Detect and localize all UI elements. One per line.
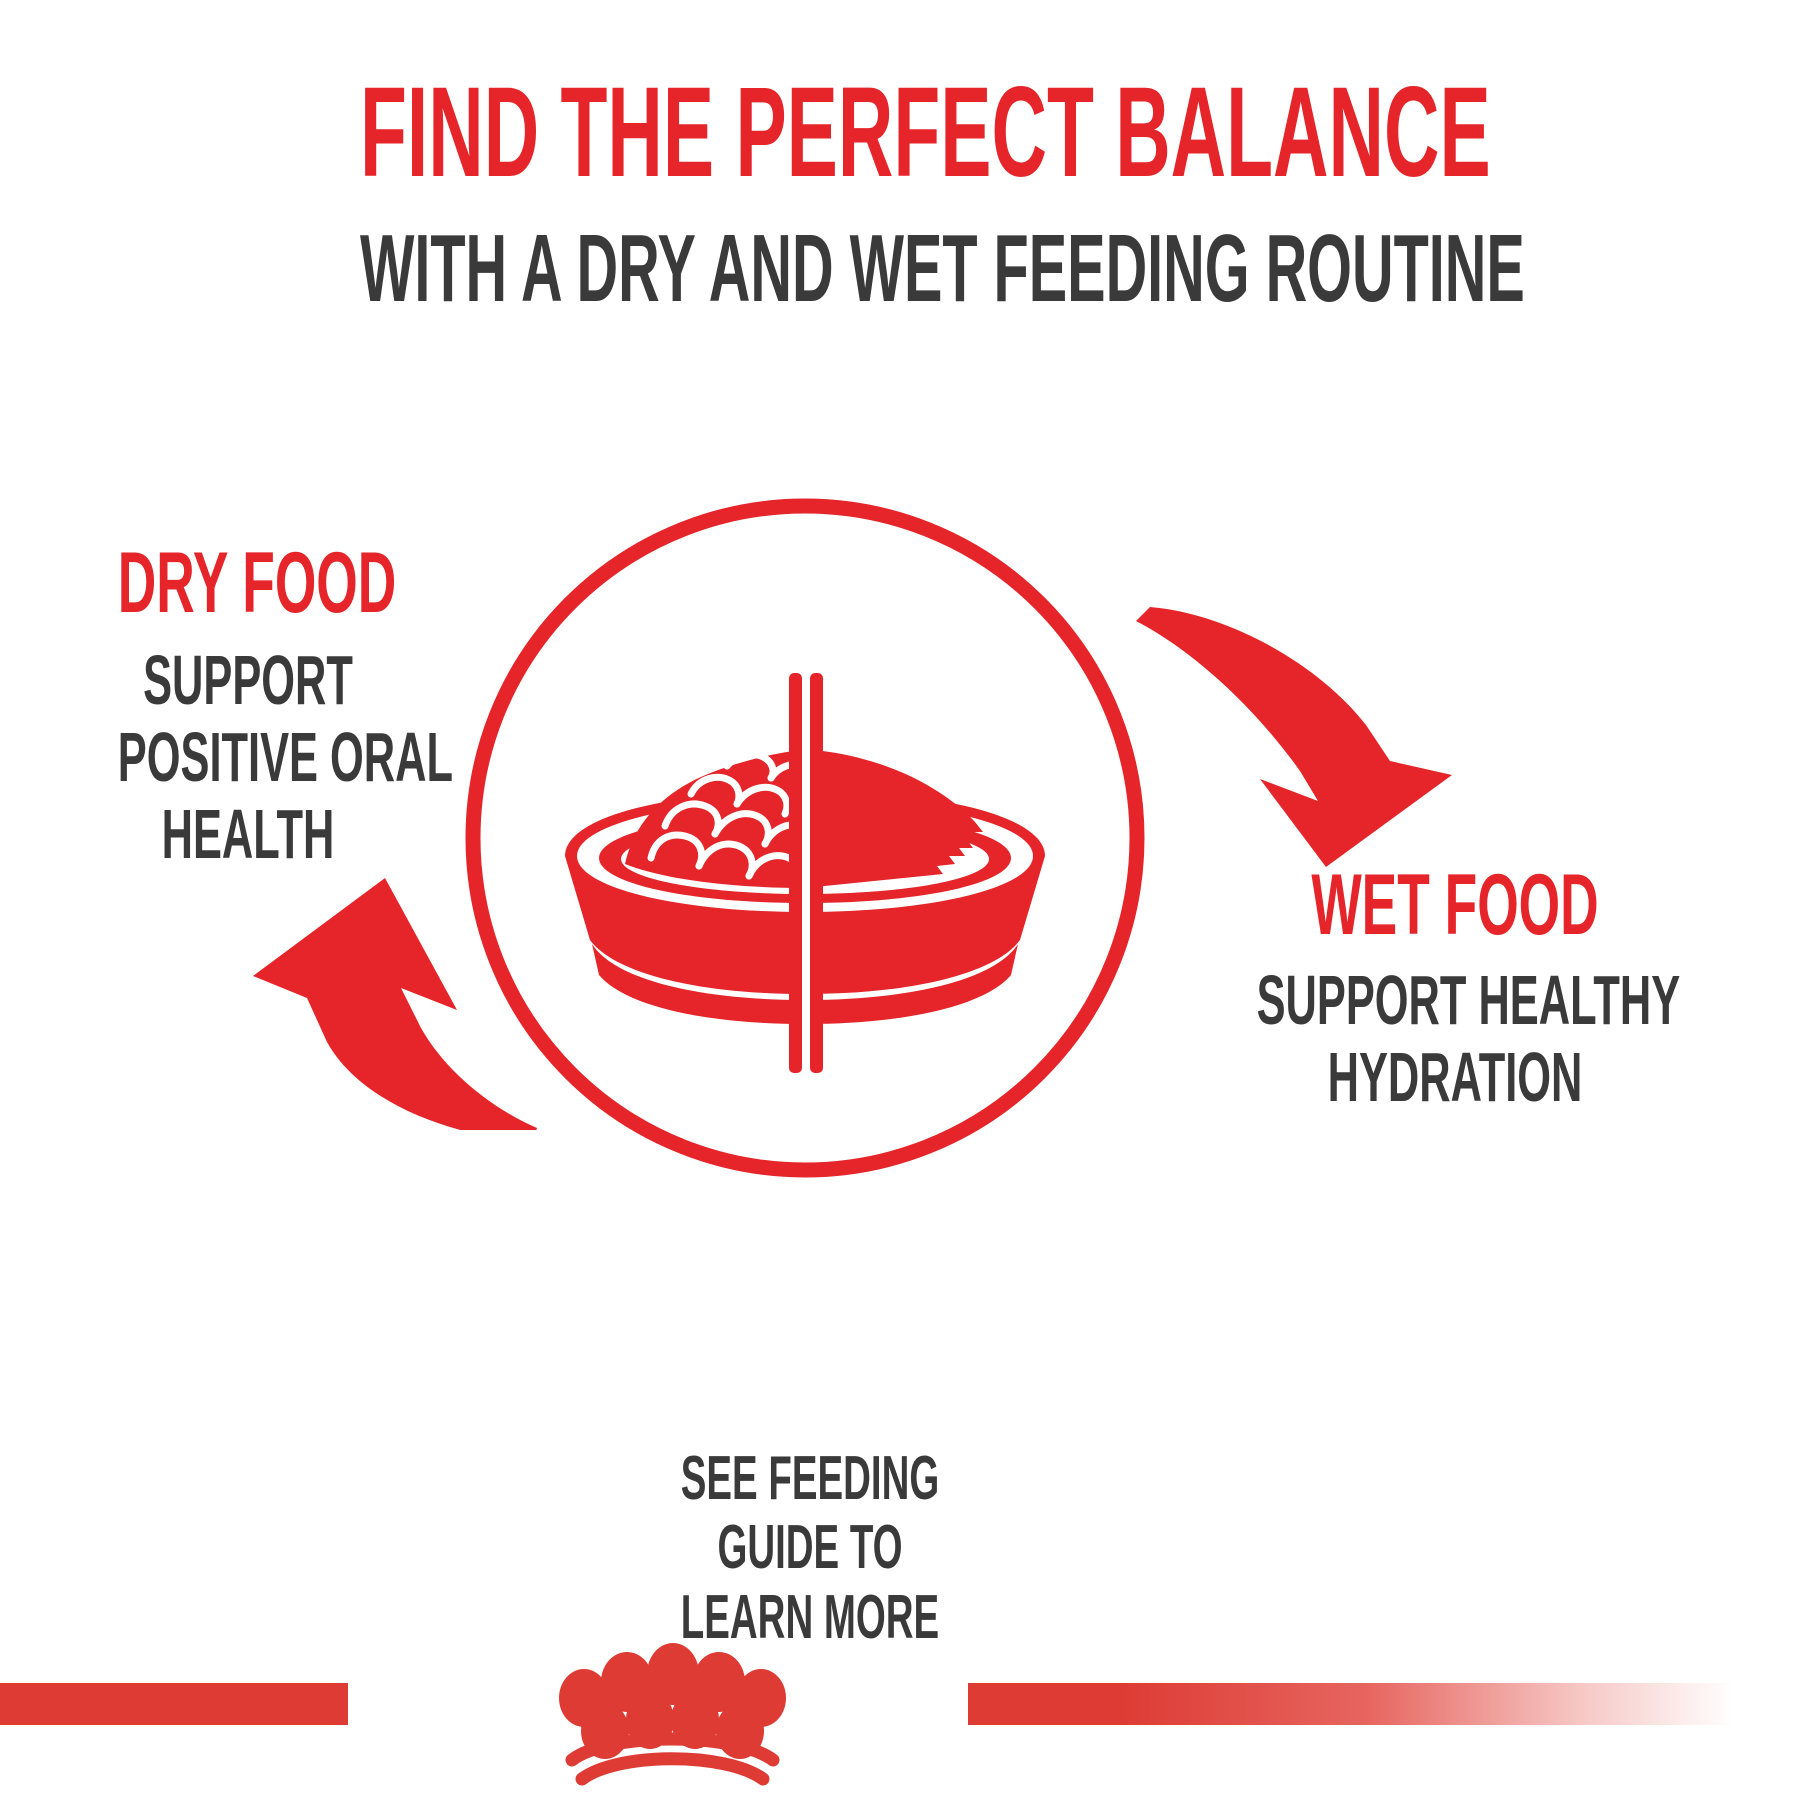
dry-food-label-block: DRY FOOD SUPPORT POSITIVE ORAL HEALTH (38, 540, 458, 873)
royal-canin-crown-logo (346, 1626, 970, 1786)
divider-bar-left (789, 673, 802, 1073)
cta-line-1: SEE FEEDING (661, 1444, 959, 1513)
vertical-split-divider (789, 673, 823, 1073)
wet-food-desc-line-2: HYDRATION (1257, 1039, 1654, 1116)
dry-food-arrow (195, 860, 545, 1130)
dry-kibble-mound (625, 750, 805, 888)
curved-arrow-down-right-svg (1130, 605, 1460, 875)
crown-icon (346, 1626, 970, 1786)
arrow-right-shape (1136, 607, 1452, 867)
footer-bar-right (968, 1683, 1800, 1725)
dry-food-desc-line-2: POSITIVE ORAL (118, 719, 378, 796)
wet-food-description: SUPPORT HEALTHY HYDRATION (1257, 962, 1654, 1116)
wet-food-desc-line-1: SUPPORT HEALTHY (1257, 962, 1654, 1039)
divider-bar-right (810, 673, 823, 1073)
arrow-left-shape (253, 878, 537, 1130)
curved-arrow-up-left-svg (195, 860, 545, 1130)
page-subtitle: WITH A DRY AND WET FEEDING ROUTINE (360, 221, 1440, 317)
dry-food-description: SUPPORT POSITIVE ORAL HEALTH (118, 642, 378, 873)
wet-food-label-block: WET FOOD SUPPORT HEALTHY HYDRATION (1135, 862, 1775, 1116)
bowl-illustration-svg (455, 488, 1155, 1188)
crown-arc-lower (582, 1759, 763, 1779)
wet-food-arrow (1130, 605, 1460, 875)
footer-bar-left (0, 1683, 348, 1725)
cta-line-2: GUIDE TO (661, 1513, 959, 1582)
crown-arcs (572, 1739, 773, 1779)
page-title: FIND THE PERFECT BALANCE (360, 70, 1440, 195)
dry-food-desc-line-1: SUPPORT (118, 642, 378, 719)
headline-block: FIND THE PERFECT BALANCE WITH A DRY AND … (0, 70, 1800, 317)
bowl-group (565, 673, 1045, 1073)
divider-gap (802, 673, 810, 1073)
split-pet-food-bowl-icon (455, 488, 1155, 1188)
dry-food-title: DRY FOOD (118, 540, 378, 626)
footer (0, 1620, 1800, 1800)
